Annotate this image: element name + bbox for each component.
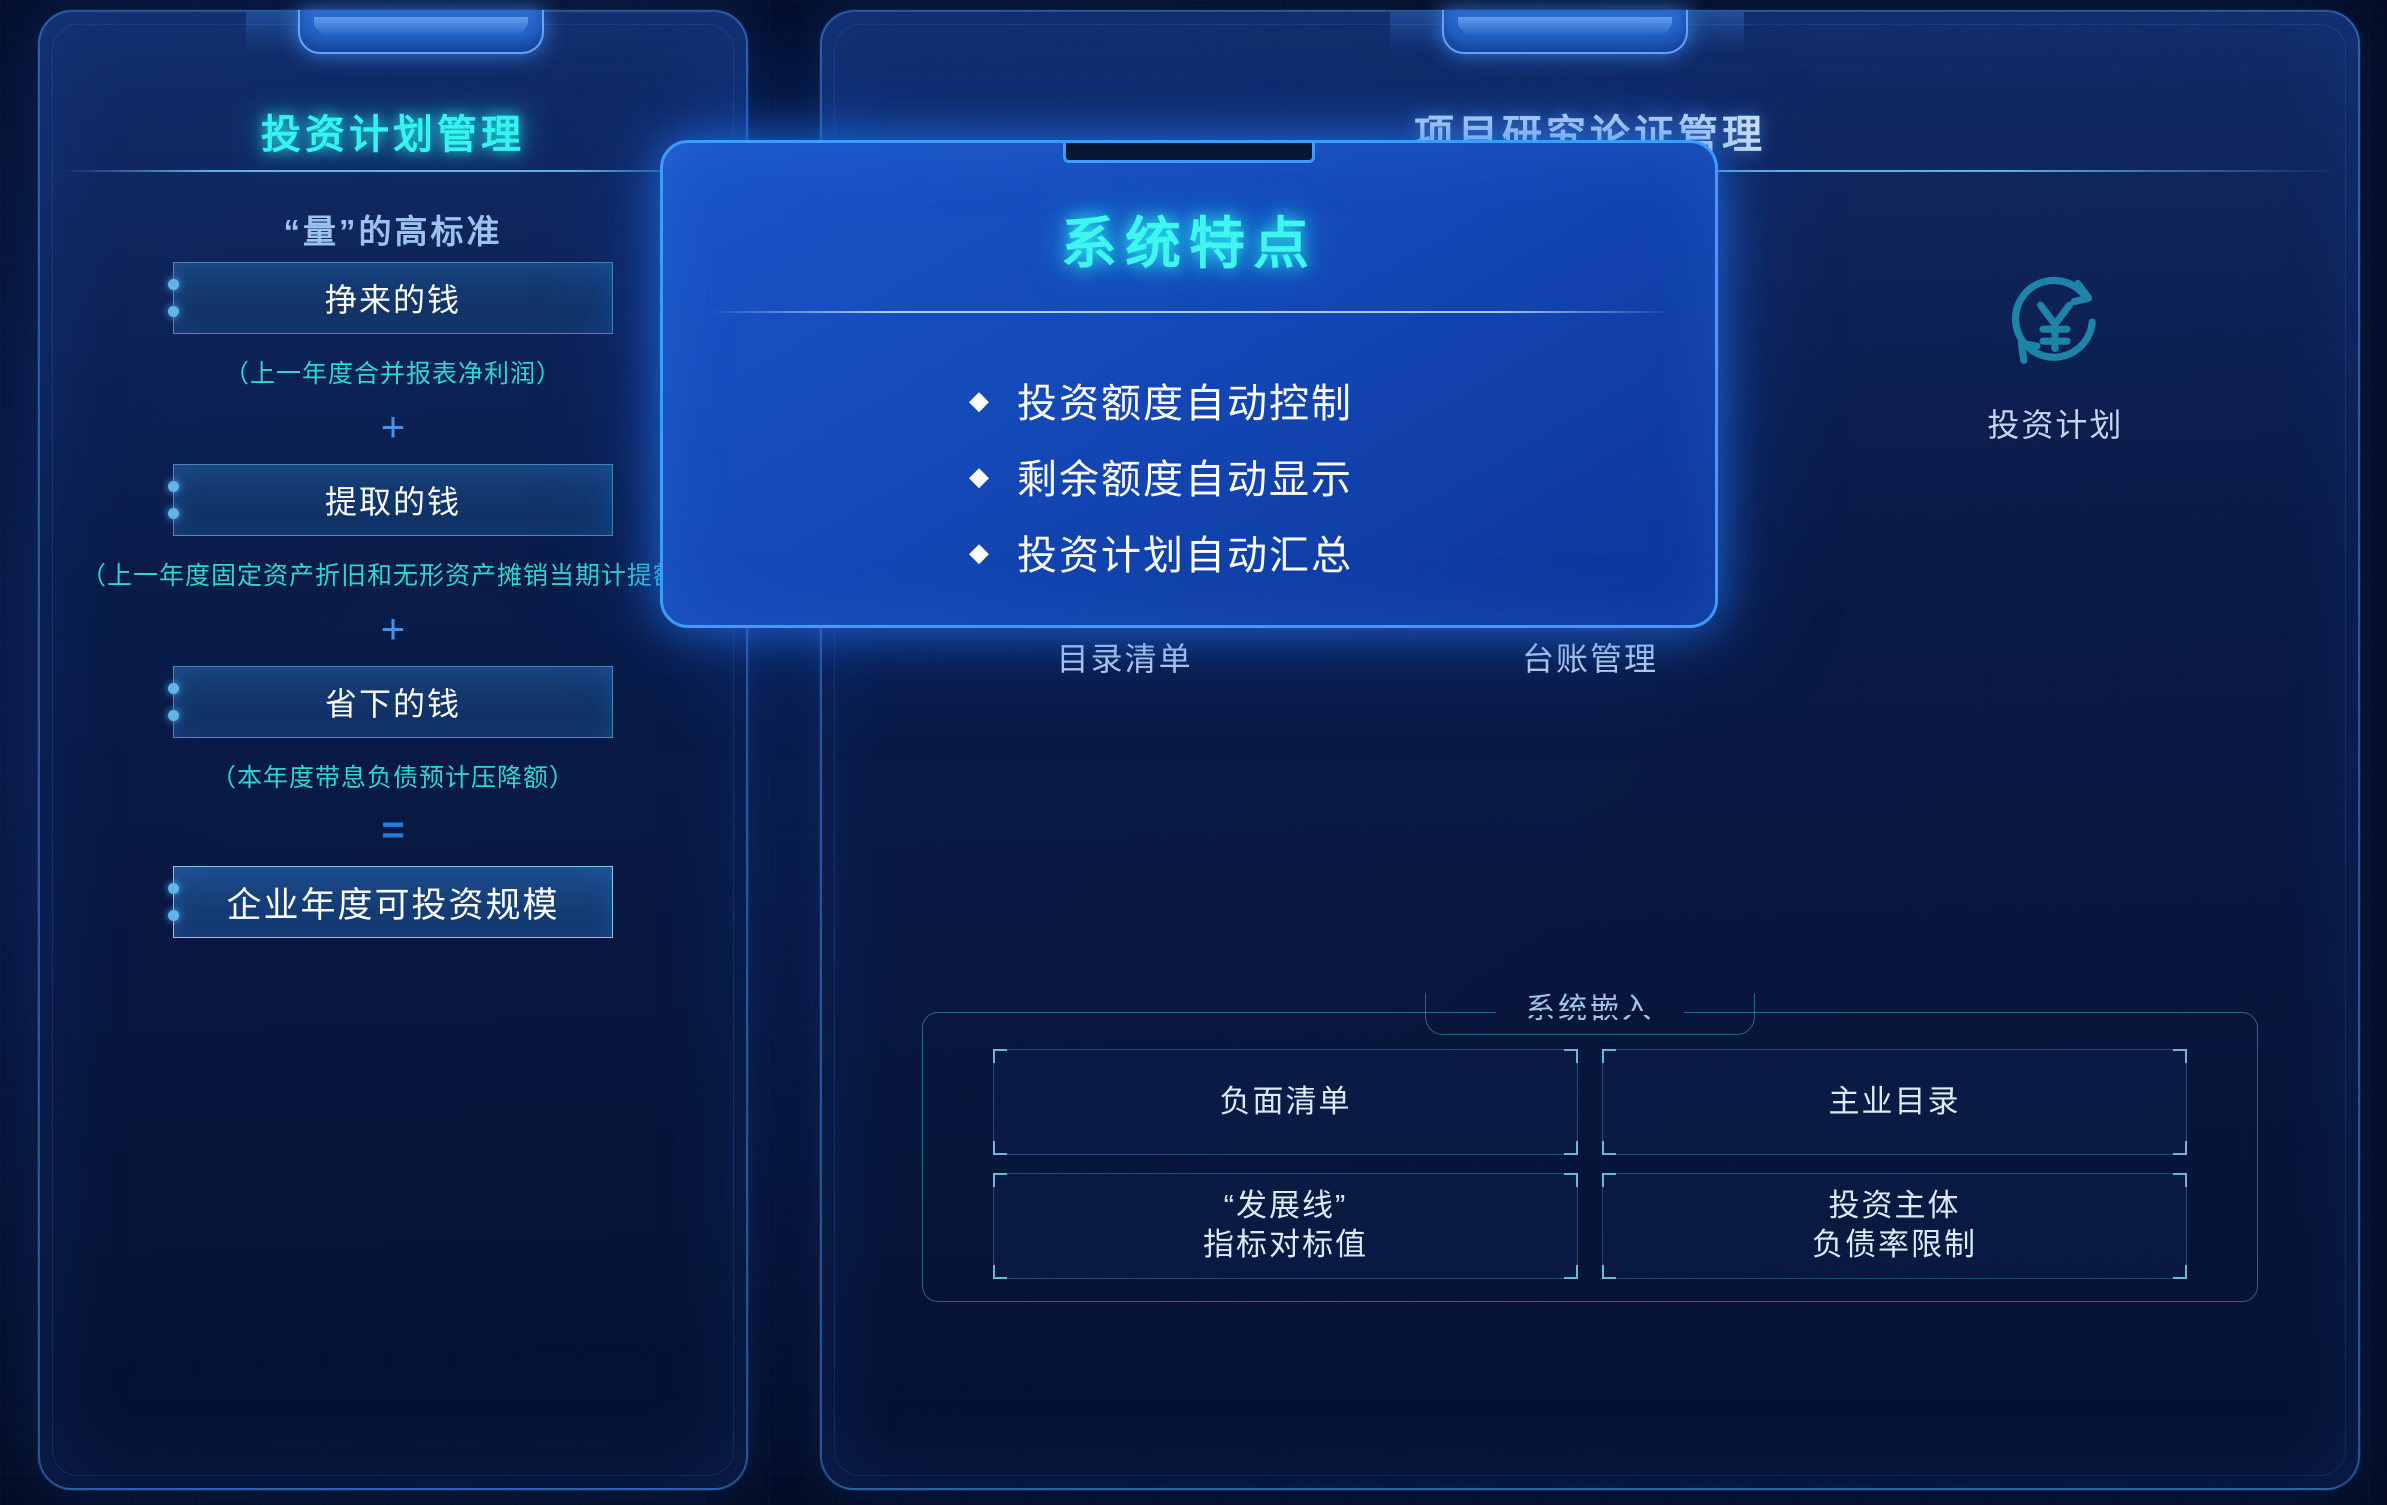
system-embed-legend: 系统嵌入 [1496, 985, 1684, 1027]
list-item: ◆ 投资计划自动汇总 [969, 523, 1409, 581]
module-label: 台账管理 [1522, 634, 1658, 680]
diamond-bullet-icon: ◆ [969, 463, 991, 489]
list-item: ◆ 剩余额度自动显示 [969, 447, 1409, 505]
system-embed-grid: 负面清单 主业目录 “发展线” 指标对标值 投资主体 [993, 1049, 2187, 1279]
list-item-label: 投资计划自动汇总 [1017, 523, 1353, 581]
modal-title: 系统特点 [663, 199, 1715, 280]
embed-cell-main-business-catalog[interactable]: 主业目录 [1602, 1049, 2187, 1155]
modal-feature-list: ◆ 投资额度自动控制 ◆ 剩余额度自动显示 ◆ 投资计划自动汇总 [663, 371, 1715, 581]
yen-cycle-icon [1995, 262, 2115, 382]
embed-cell-development-line[interactable]: “发展线” 指标对标值 [993, 1173, 1578, 1279]
flow-box-saved[interactable]: 省下的钱 [173, 666, 613, 738]
panel-tab-handle[interactable] [1442, 10, 1688, 54]
flow-note-earned: （上一年度合并报表净利润） [40, 354, 746, 390]
diamond-bullet-icon: ◆ [969, 387, 991, 413]
flow-box-label: 挣来的钱 [325, 275, 461, 321]
tab-wedge-right [1688, 12, 1744, 52]
flow-note-saved: （本年度带息负债预计压降额） [40, 758, 746, 794]
panel-tab-handle[interactable] [298, 10, 544, 54]
investment-plan-panel: 投资计划管理 “量”的高标准 挣来的钱 （上一年度合并报表净利润） + 提取的钱… [38, 10, 748, 1490]
flow-box-earned[interactable]: 挣来的钱 [173, 262, 613, 334]
flow-note-withdrawn: （上一年度固定资产折旧和无形资产摊销当期计提额） [40, 556, 746, 592]
embed-cell-line: 投资主体 [1829, 1188, 1961, 1223]
title-divider [66, 170, 720, 172]
modal-divider [715, 311, 1663, 313]
panel-subtitle: “量”的高标准 [40, 205, 746, 253]
flow-box-result[interactable]: 企业年度可投资规模 [173, 866, 613, 938]
system-features-modal[interactable]: 系统特点 ◆ 投资额度自动控制 ◆ 剩余额度自动显示 ◆ 投资计划自动汇总 [660, 140, 1718, 628]
list-item-label: 剩余额度自动显示 [1017, 447, 1353, 505]
module-label: 目录清单 [1057, 634, 1193, 680]
page-title: 投资计划管理 [40, 102, 746, 160]
tab-wedge-left [1390, 12, 1446, 52]
module-label: 投资计划 [1987, 400, 2123, 446]
flow-operator-plus-1: + [40, 406, 746, 448]
system-embed-group: 系统嵌入 负面清单 主业目录 “发展线” 指标对标值 [922, 1012, 2258, 1302]
flow-box-withdrawn[interactable]: 提取的钱 [173, 464, 613, 536]
embed-cell-investor-debt-limit[interactable]: 投资主体 负债率限制 [1602, 1173, 2187, 1279]
flow-operator-plus-2: + [40, 608, 746, 650]
tab-wedge-left [246, 12, 302, 52]
flow-box-label: 企业年度可投资规模 [226, 877, 559, 928]
embed-cell-line: “发展线” [1224, 1188, 1348, 1223]
embed-cell-negative-list[interactable]: 负面清单 [993, 1049, 1578, 1155]
modal-notch [1063, 140, 1315, 163]
slide-canvas: 投资计划管理 “量”的高标准 挣来的钱 （上一年度合并报表净利润） + 提取的钱… [0, 0, 2387, 1505]
list-item: ◆ 投资额度自动控制 [969, 371, 1409, 429]
flow-operator-equals: = [40, 810, 746, 850]
list-item-label: 投资额度自动控制 [1017, 371, 1353, 429]
flow-box-label: 省下的钱 [325, 679, 461, 725]
embed-cell-line: 负债率限制 [1812, 1227, 1977, 1262]
embed-cell-line: 指标对标值 [1203, 1227, 1368, 1262]
module-slot-empty [1823, 496, 2288, 680]
embed-cell-line: 负面清单 [1220, 1084, 1352, 1119]
diamond-bullet-icon: ◆ [969, 539, 991, 565]
embed-cell-line: 主业目录 [1829, 1084, 1961, 1119]
module-investment-plan[interactable]: 投资计划 [1823, 262, 2288, 446]
flow-box-label: 提取的钱 [325, 477, 461, 523]
investment-formula-flow: 挣来的钱 （上一年度合并报表净利润） + 提取的钱 （上一年度固定资产折旧和无形… [40, 262, 746, 938]
